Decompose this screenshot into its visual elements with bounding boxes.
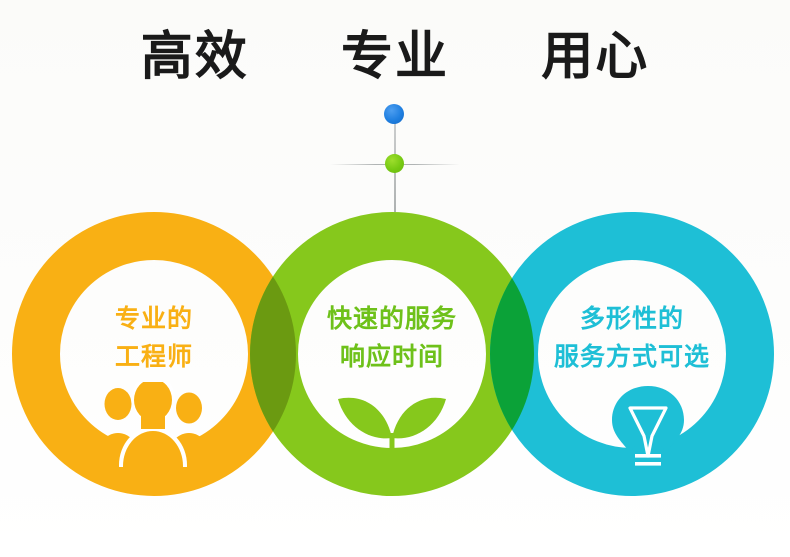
title-word-1: 高效 — [141, 26, 249, 88]
blue-dot — [384, 104, 404, 124]
ring-service-options-label: 多形性的 服务方式可选 — [532, 300, 732, 376]
ring-service-options-line-1: 多形性的 — [532, 300, 732, 338]
sprout-icon — [330, 383, 454, 475]
ring-service-options-line-2: 服务方式可选 — [532, 338, 732, 376]
title-word-3: 用心 — [541, 26, 649, 88]
ring-response-time-line-2: 响应时间 — [292, 338, 492, 376]
lightbulb-icon — [602, 384, 694, 476]
ring-response-time-label: 快速的服务 响应时间 — [292, 300, 492, 376]
green-dot — [385, 154, 404, 173]
ring-engineers-line-2: 工程师 — [54, 338, 254, 376]
title-word-2: 专业 — [341, 26, 449, 88]
page-title: 高效 专业 用心 — [0, 26, 790, 88]
ring-engineers-label: 专业的 工程师 — [54, 300, 254, 376]
ring-response-time-line-1: 快速的服务 — [292, 300, 492, 338]
poster-canvas: 高效 专业 用心 — [0, 0, 790, 557]
people-group-icon — [92, 382, 216, 467]
ring-engineers-line-1: 专业的 — [54, 300, 254, 338]
